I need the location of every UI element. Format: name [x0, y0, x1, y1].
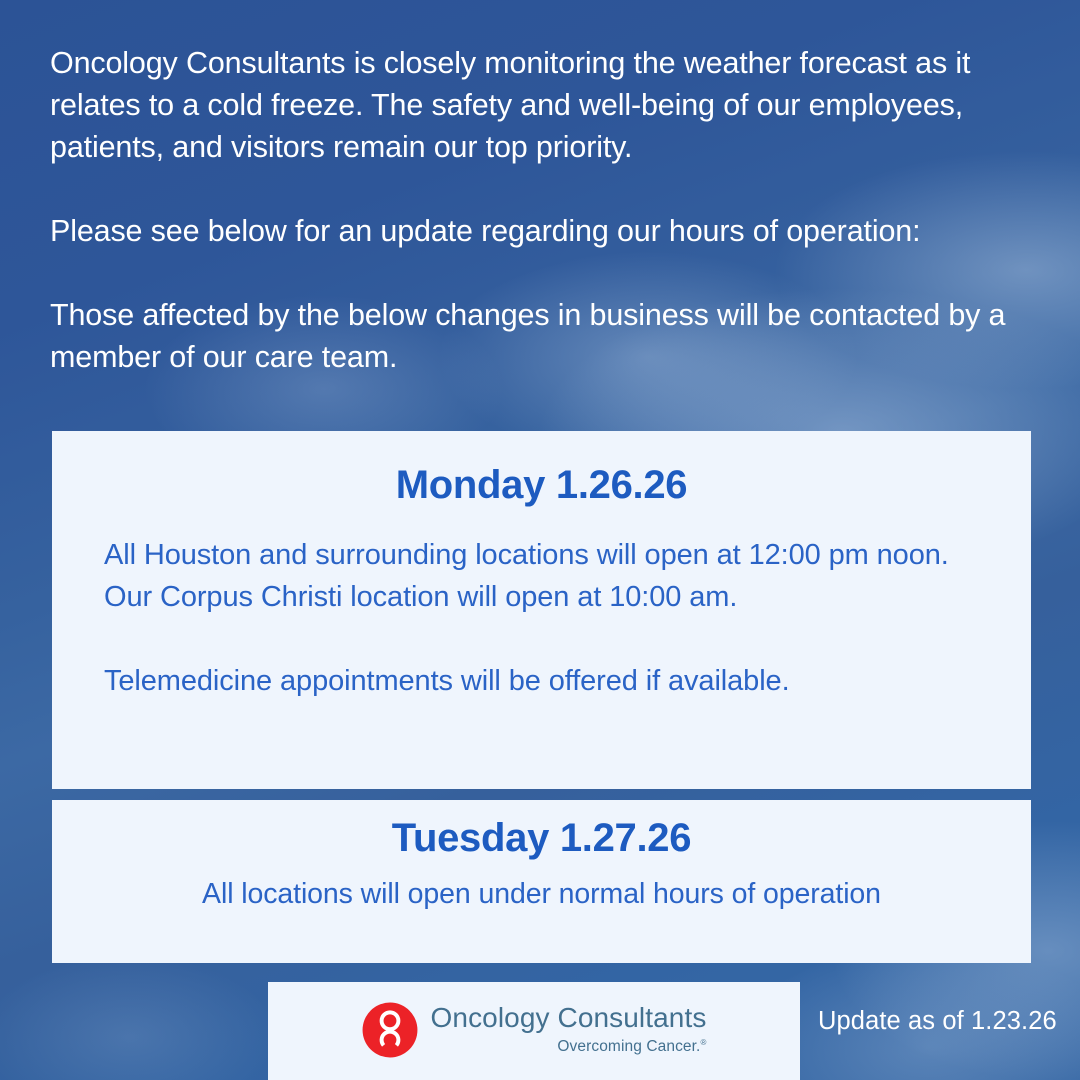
- oncology-consultants-logo-icon: [362, 1002, 418, 1058]
- monday-body-spacer: [104, 618, 991, 660]
- registered-trademark-icon: ®: [700, 1038, 706, 1047]
- logo-company-name: Oncology Consultants: [431, 1003, 707, 1033]
- poster-content: Oncology Consultants is closely monitori…: [0, 0, 1080, 1080]
- tuesday-card-title: Tuesday 1.27.26: [52, 800, 1031, 861]
- intro-paragraph-2: Please see below for an update regarding…: [50, 210, 1030, 252]
- intro-spacer-1: [50, 168, 1030, 210]
- tuesday-card-body: All locations will open under normal hou…: [52, 861, 1031, 915]
- monday-schedule-card: Monday 1.26.26 All Houston and surroundi…: [52, 431, 1031, 789]
- intro-spacer-2: [50, 252, 1030, 294]
- monday-line-2: Our Corpus Christi location will open at…: [104, 576, 991, 618]
- logo-tagline-text: Overcoming Cancer.: [557, 1039, 700, 1056]
- tuesday-schedule-card: Tuesday 1.27.26 All locations will open …: [52, 800, 1031, 963]
- monday-line-3: Telemedicine appointments will be offere…: [104, 660, 991, 702]
- monday-card-body: All Houston and surrounding locations wi…: [52, 508, 1031, 702]
- logo-wordmark: Oncology Consultants Overcoming Cancer.®: [431, 1003, 707, 1056]
- intro-paragraph-3: Those affected by the below changes in b…: [50, 294, 1030, 378]
- monday-line-1: All Houston and surrounding locations wi…: [104, 534, 991, 576]
- logo-tagline: Overcoming Cancer.®: [557, 1033, 706, 1056]
- monday-card-title: Monday 1.26.26: [52, 431, 1031, 508]
- intro-text-block: Oncology Consultants is closely monitori…: [50, 42, 1030, 378]
- intro-paragraph-1: Oncology Consultants is closely monitori…: [50, 42, 1030, 168]
- update-timestamp: Update as of 1.23.26: [818, 1007, 1057, 1036]
- tuesday-line-1: All locations will open under normal hou…: [82, 873, 1001, 915]
- logo-bar: Oncology Consultants Overcoming Cancer.®: [268, 982, 800, 1080]
- logo-lockup: Oncology Consultants Overcoming Cancer.®: [362, 1002, 707, 1058]
